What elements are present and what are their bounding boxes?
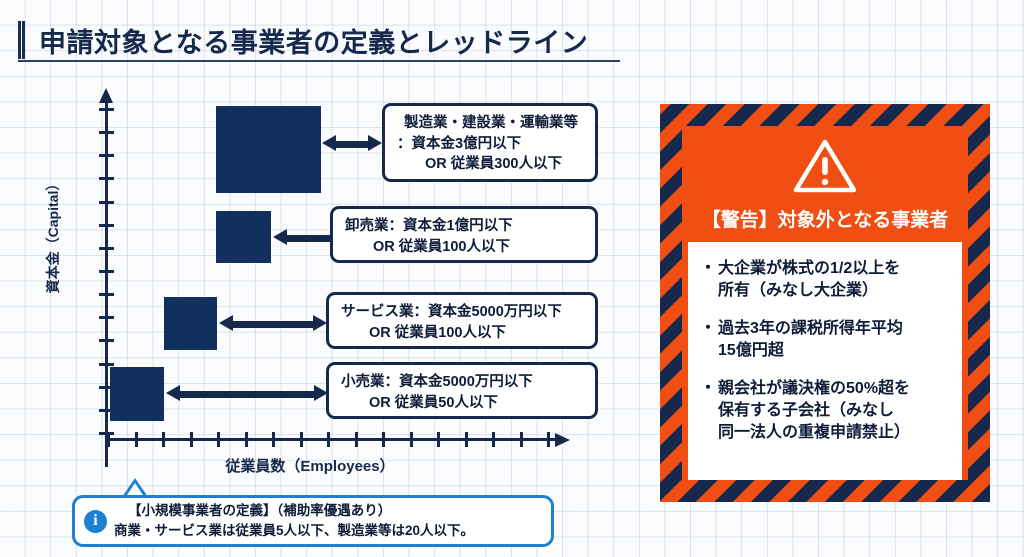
callout-line-2: ：資本金3億円以下 bbox=[397, 134, 585, 155]
arrow-retail bbox=[166, 388, 328, 398]
callout-wholesale[interactable]: 卸売業：資本金1億円以下 OR 従業員100人以下 bbox=[330, 206, 598, 263]
warning-item-line-2: 保有する子会社（みなし bbox=[718, 402, 894, 419]
y-axis-tick bbox=[99, 316, 114, 319]
x-axis-tick bbox=[272, 432, 275, 447]
warning-panel: 【警告】対象外となる事業者 ・ 大企業が株式の1/2以上を 所有（みなし大企業）… bbox=[660, 104, 990, 502]
y-axis-arrowhead-icon bbox=[99, 88, 113, 103]
x-axis-tick bbox=[410, 432, 413, 447]
info-line-1: 【小規模事業者の定義】（補助率優遇あり） bbox=[114, 501, 474, 521]
warning-item-line-3: 同一法人の重複申請禁止） bbox=[718, 424, 910, 441]
manufacturing-block bbox=[216, 106, 321, 193]
y-axis-tick bbox=[99, 177, 114, 180]
x-axis-tick bbox=[190, 432, 193, 447]
warning-item-text: 大企業が株式の1/2以上を 所有（みなし大企業） bbox=[718, 258, 952, 302]
info-icon: i bbox=[84, 510, 107, 533]
x-axis-tick bbox=[327, 432, 330, 447]
x-axis-tick bbox=[300, 432, 303, 447]
wholesale-block bbox=[216, 211, 271, 263]
arrow-service bbox=[219, 318, 327, 328]
warning-list-item: ・ 過去3年の課税所得年平均 15億円超 bbox=[700, 318, 952, 362]
x-axis-tick bbox=[355, 432, 358, 447]
info-line-2: 商業・サービス業は従業員5人以下、製造業等は20人以下。 bbox=[114, 521, 474, 541]
warning-body: ・ 大企業が株式の1/2以上を 所有（みなし大企業） ・ 過去3年の課税所得年平… bbox=[688, 242, 962, 480]
warning-triangle-icon bbox=[792, 138, 858, 199]
x-axis-tick bbox=[382, 432, 385, 447]
x-axis-arrowhead-icon bbox=[555, 433, 570, 447]
x-axis-tick bbox=[437, 432, 440, 447]
slide-canvas: 申請対象となる事業者の定義とレッドライン 資本金（Capital） 従業員数（E… bbox=[0, 0, 1024, 557]
warning-item-line-1: 大企業が株式の1/2以上を bbox=[718, 260, 900, 277]
y-axis-tick bbox=[99, 270, 114, 273]
warning-item-line-1: 過去3年の課税所得年平均 bbox=[718, 320, 903, 337]
bullet-icon: ・ bbox=[700, 318, 716, 362]
arrow-shaft bbox=[334, 141, 370, 148]
x-axis-label: 従業員数（Employees） bbox=[160, 455, 460, 476]
bullet-icon: ・ bbox=[700, 258, 716, 302]
callout-service[interactable]: サービス業：資本金5000万円以下 OR 従業員100人以下 bbox=[326, 292, 598, 349]
warning-list-item: ・ 親会社が議決権の50%超を 保有する子会社（みなし 同一法人の重複申請禁止） bbox=[700, 378, 952, 444]
y-axis-tick bbox=[99, 108, 114, 111]
y-axis-tick bbox=[99, 339, 114, 342]
y-axis-tick bbox=[99, 224, 114, 227]
warning-panel-inner: 【警告】対象外となる事業者 ・ 大企業が株式の1/2以上を 所有（みなし大企業）… bbox=[682, 126, 968, 480]
y-axis-tick bbox=[99, 154, 114, 157]
arrow-head-right-icon bbox=[368, 135, 382, 151]
warning-list-item: ・ 大企業が株式の1/2以上を 所有（みなし大企業） bbox=[700, 258, 952, 302]
warning-item-text: 過去3年の課税所得年平均 15億円超 bbox=[718, 318, 952, 362]
y-axis-tick bbox=[99, 363, 114, 366]
callout-manufacturing[interactable]: 製造業・建設業・運輸業等 ：資本金3億円以下 OR 従業員300人以下 bbox=[382, 103, 598, 182]
x-axis-tick bbox=[107, 432, 110, 447]
x-axis-tick bbox=[465, 432, 468, 447]
service-block bbox=[164, 297, 217, 350]
callout-retail[interactable]: 小売業：資本金5000万円以下 OR 従業員50人以下 bbox=[326, 362, 598, 419]
info-callout[interactable]: i 【小規模事業者の定義】（補助率優遇あり） 商業・サービス業は従業員5人以下、… bbox=[72, 495, 554, 547]
retail-block bbox=[110, 367, 164, 421]
callout-line-1: 小売業：資本金5000万円以下 bbox=[341, 372, 585, 393]
warning-heading: 【警告】対象外となる事業者 bbox=[702, 205, 948, 232]
callout-line-2: OR 従業員100人以下 bbox=[345, 237, 585, 258]
y-axis-label: 資本金（Capital） bbox=[43, 160, 63, 310]
callout-line-1: 製造業・建設業・運輸業等 bbox=[397, 113, 585, 134]
callout-line-1: 卸売業：資本金1億円以下 bbox=[345, 216, 585, 237]
title-underline bbox=[18, 60, 620, 62]
arrow-shaft bbox=[231, 321, 315, 328]
x-axis-tick bbox=[547, 432, 550, 447]
x-axis-tick bbox=[135, 432, 138, 447]
y-axis-tick bbox=[99, 201, 114, 204]
y-axis-tick bbox=[99, 293, 114, 296]
info-callout-text: 【小規模事業者の定義】（補助率優遇あり） 商業・サービス業は従業員5人以下、製造… bbox=[114, 501, 474, 540]
page-title: 申請対象となる事業者の定義とレッドライン bbox=[18, 16, 618, 64]
title-accent-bar bbox=[18, 21, 25, 59]
x-axis-tick bbox=[520, 432, 523, 447]
callout-line-1: サービス業：資本金5000万円以下 bbox=[341, 302, 585, 323]
x-axis-tick bbox=[245, 432, 248, 447]
title-text: 申請対象となる事業者の定義とレッドライン bbox=[39, 21, 588, 60]
warning-item-text: 親会社が議決権の50%超を 保有する子会社（みなし 同一法人の重複申請禁止） bbox=[718, 378, 952, 444]
arrow-head-right-icon bbox=[313, 315, 327, 331]
y-axis-tick bbox=[99, 131, 114, 134]
warning-item-line-2: 15億円超 bbox=[718, 342, 784, 359]
callout-line-2: OR 従業員100人以下 bbox=[341, 323, 585, 344]
warning-item-line-1: 親会社が議決権の50%超を bbox=[718, 380, 910, 397]
arrow-shaft bbox=[178, 391, 316, 398]
x-axis-tick bbox=[492, 432, 495, 447]
warning-item-line-2: 所有（みなし大企業） bbox=[718, 282, 878, 299]
y-axis-tick bbox=[99, 247, 114, 250]
bullet-icon: ・ bbox=[700, 378, 716, 444]
callout-line-2: OR 従業員50人以下 bbox=[341, 393, 585, 414]
x-axis-tick bbox=[217, 432, 220, 447]
arrow-manufacturing bbox=[322, 138, 382, 148]
callout-line-3: OR 従業員300人以下 bbox=[397, 154, 585, 175]
x-axis-tick bbox=[162, 432, 165, 447]
